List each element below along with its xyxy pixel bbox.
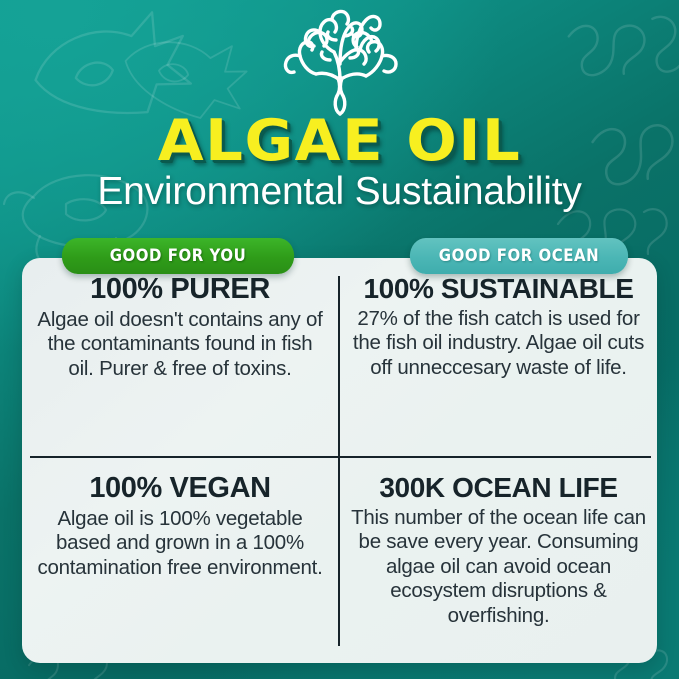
benefit-body: Algae oil doesn't contains any of the co… <box>36 308 324 382</box>
poster-header: ALGAE OIL Environmental Sustainability <box>0 0 679 258</box>
horizontal-divider <box>30 456 651 458</box>
badge-row: GOOD FOR YOU GOOD FOR OCEAN <box>22 238 657 274</box>
algae-oil-infographic: ALGAE OIL Environmental Sustainability G… <box>0 0 679 679</box>
benefit-body: 27% of the fish catch is used for the fi… <box>350 307 647 381</box>
coral-seaweed-icon <box>270 6 410 118</box>
page-title: ALGAE OIL <box>0 113 679 170</box>
badge-good-for-ocean[interactable]: GOOD FOR OCEAN <box>410 238 628 274</box>
benefit-body: This number of the ocean life can be sav… <box>350 506 647 629</box>
benefit-heading: 300K OCEAN LIFE <box>379 473 617 503</box>
benefit-cell-sustainable: 100% SUSTAINABLE 27% of the fish catch i… <box>338 258 657 457</box>
benefit-heading: 100% SUSTAINABLE <box>363 274 633 304</box>
page-subtitle: Environmental Sustainability <box>0 172 679 213</box>
benefit-body: Algae oil is 100% vegetable based and gr… <box>36 507 324 581</box>
vertical-divider <box>338 276 340 646</box>
benefit-heading: 100% PURER <box>90 274 270 305</box>
benefit-cell-purer: 100% PURER Algae oil doesn't contains an… <box>22 258 338 457</box>
benefit-cell-vegan: 100% VEGAN Algae oil is 100% vegetable b… <box>22 457 338 663</box>
benefit-heading: 100% VEGAN <box>89 473 270 504</box>
benefit-cell-ocean-life: 300K OCEAN LIFE This number of the ocean… <box>338 457 657 663</box>
badge-good-for-you[interactable]: GOOD FOR YOU <box>62 238 294 274</box>
benefits-card: 100% PURER Algae oil doesn't contains an… <box>22 258 657 663</box>
